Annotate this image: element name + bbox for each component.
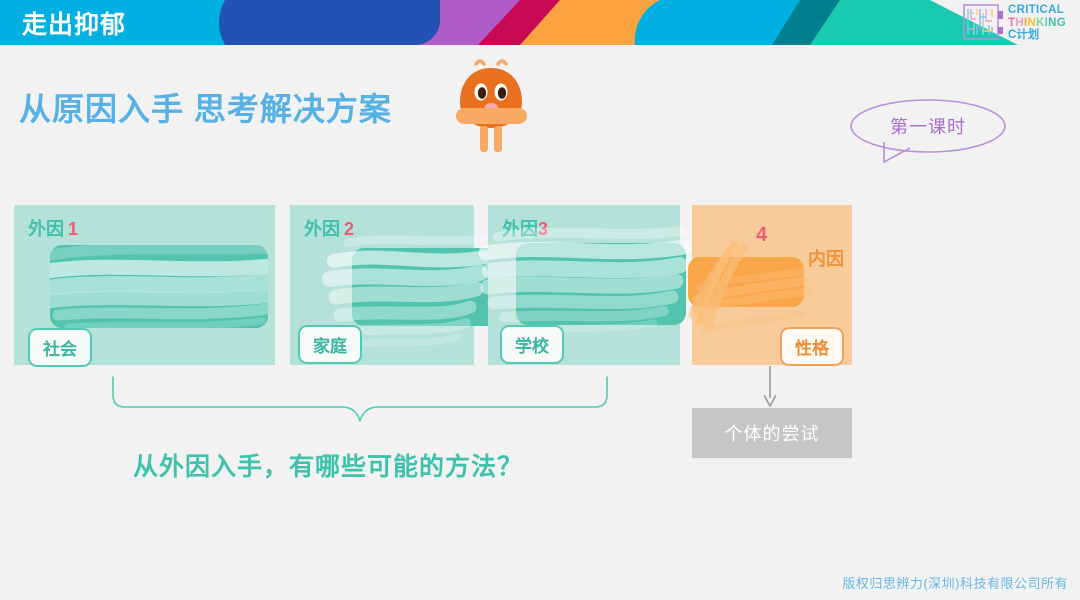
card-3-hidden-text [516,243,686,325]
card-4-hidden-text [688,257,804,307]
card-4-tag[interactable]: 性格 [780,327,844,366]
cause-card-2[interactable]: 外因2 家庭 [290,205,474,365]
card-1-content-box [50,245,268,328]
banner-shapes [0,0,1080,45]
card-3-category: 外因3 [502,215,548,241]
cause-card-3[interactable]: 外因3 学校 [488,205,680,365]
cause-card-4[interactable]: 4 内因 性格 [692,205,852,365]
orange-round-character-icon [452,56,530,158]
card-3-tag[interactable]: 学校 [500,325,564,364]
logo-line-1: CRITICAL [1008,4,1066,16]
banner-title: 走出抑郁 [22,5,126,41]
maze-square-logo-icon [962,3,1004,43]
card-1-hidden-text [50,245,268,328]
lesson-badge-label: 第一课时 [848,98,1008,154]
logo-line-2: THINKING [1008,17,1066,29]
top-banner: 走出抑郁 [0,0,1080,45]
copyright-footer: 版权归思辨力(深圳)科技有限公司所有 [842,573,1068,592]
page-title: 从原因入手 思考解决方案 [19,84,392,130]
slide-canvas: 走出抑郁 [0,0,1080,600]
card-2-tag[interactable]: 家庭 [298,325,362,364]
card-2-category: 外因2 [304,215,354,241]
lesson-badge: 第一课时 [848,98,1008,168]
card-3-content-box [516,243,686,325]
card-4-content-box [688,257,804,307]
logo-wordmark: CRITICAL THINKING C计划 [1008,4,1066,41]
question-text: 从外因入手，有哪些可能的方法？ [133,447,523,483]
card-1-tag[interactable]: 社会 [28,328,92,367]
brand-logo: CRITICAL THINKING C计划 [962,1,1074,45]
logo-line-3: C计划 [1008,29,1066,41]
card-4-category: 内因 [808,245,844,271]
card-4-number: 4 [756,224,767,247]
cause-card-1[interactable]: 外因1 社会 [14,205,275,365]
down-arrow-icon [760,366,780,408]
result-box: 个体的尝试 [692,408,852,458]
card-1-category: 外因1 [28,215,78,241]
grouping-brace [110,375,610,423]
